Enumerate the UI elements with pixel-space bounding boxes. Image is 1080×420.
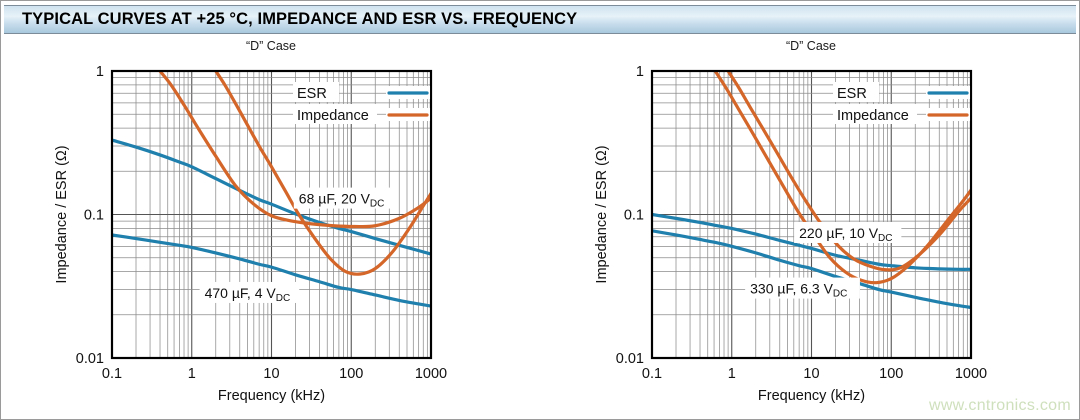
y-tick-label: 0.01 xyxy=(616,351,644,367)
legend-label: ESR xyxy=(837,86,867,102)
y-tick-label: 1 xyxy=(96,64,104,80)
x-tick-label: 0.1 xyxy=(642,366,662,382)
panel-case-label-left: “D” Case xyxy=(1,39,541,53)
figure-page: TYPICAL CURVES AT +25 °C, IMPEDANCE AND … xyxy=(0,0,1080,420)
y-tick-label: 1 xyxy=(636,64,644,80)
x-tick-label: 1000 xyxy=(955,366,987,382)
x-axis-label: Frequency (kHz) xyxy=(218,388,325,404)
chart-panel-right: “D” Case 0.111010010000.010.11Frequency … xyxy=(541,35,1080,419)
x-axis-label: Frequency (kHz) xyxy=(758,388,865,404)
panel-case-label-right: “D” Case xyxy=(541,39,1080,53)
x-tick-label: 1000 xyxy=(415,366,447,382)
chart-svg-right: 0.111010010000.010.11Frequency (kHz)Impe… xyxy=(541,55,1080,405)
chart-left: 0.111010010000.010.11Frequency (kHz)Impe… xyxy=(1,55,541,405)
legend-label: ESR xyxy=(297,86,327,102)
chart-panel-left: “D” Case 0.111010010000.010.11Frequency … xyxy=(1,35,541,419)
page-title: TYPICAL CURVES AT +25 °C, IMPEDANCE AND … xyxy=(4,10,577,29)
chart-right: 0.111010010000.010.11Frequency (kHz)Impe… xyxy=(541,55,1080,405)
x-tick-label: 100 xyxy=(339,366,363,382)
x-tick-label: 1 xyxy=(728,366,736,382)
legend-label: Impedance xyxy=(837,108,909,124)
x-tick-label: 10 xyxy=(263,366,279,382)
y-axis-label: Impedance / ESR (Ω) xyxy=(594,145,610,283)
x-tick-label: 10 xyxy=(803,366,819,382)
y-axis-label: Impedance / ESR (Ω) xyxy=(54,145,70,283)
x-tick-label: 0.1 xyxy=(102,366,122,382)
legend-label: Impedance xyxy=(297,108,369,124)
x-tick-label: 1 xyxy=(188,366,196,382)
watermark: www.cntronics.com xyxy=(929,397,1071,415)
figure-title-bar: TYPICAL CURVES AT +25 °C, IMPEDANCE AND … xyxy=(4,5,1076,34)
y-tick-label: 0.01 xyxy=(76,351,104,367)
x-tick-label: 100 xyxy=(879,366,903,382)
chart-svg-left: 0.111010010000.010.11Frequency (kHz)Impe… xyxy=(1,55,541,405)
y-tick-label: 0.1 xyxy=(624,208,644,224)
y-tick-label: 0.1 xyxy=(84,208,104,224)
